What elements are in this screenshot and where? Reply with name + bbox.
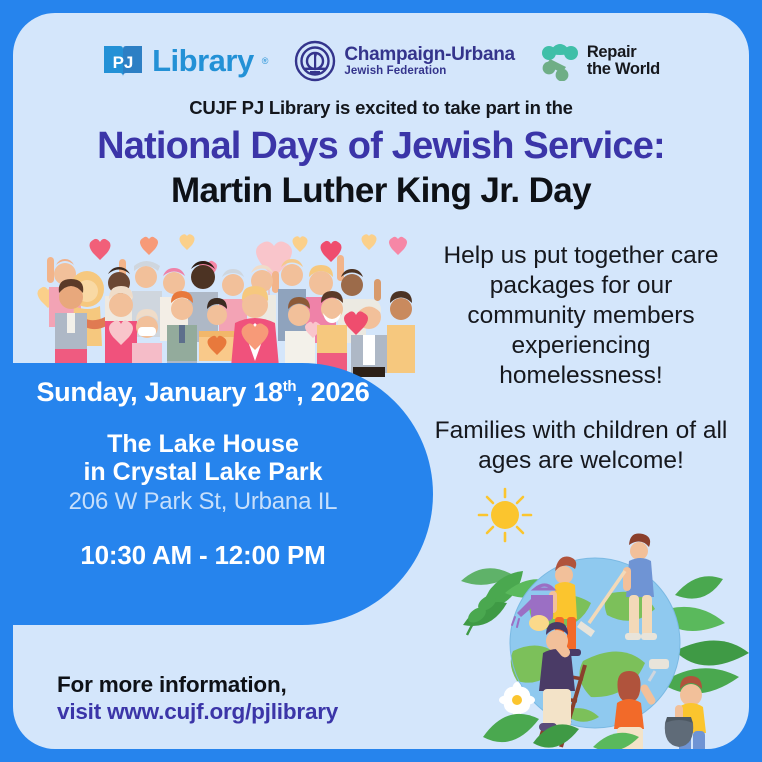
event-date: Sunday, January 18th, 2026 (36, 377, 369, 408)
description-block: Help us put together care packages for o… (431, 241, 731, 476)
event-date-prefix: Sunday, January 18 (36, 377, 282, 407)
event-venue-line-2: in Crystal Lake Park (83, 458, 322, 486)
repair-line-2: the World (587, 61, 660, 78)
event-address: 206 W Park St, Urbana IL (69, 488, 338, 516)
description-paragraph-2: Families with children of all ages are w… (431, 416, 731, 476)
repair-line-1: Repair (587, 44, 660, 61)
event-details-card: Sunday, January 18th, 2026 The Lake Hous… (13, 363, 433, 625)
diverse-crowd-holding-hearts-illustration (19, 231, 415, 383)
pj-library-wordmark: Library (152, 43, 254, 79)
paragraph-spacer (431, 390, 731, 416)
repair-wordmark: Repair the World (587, 44, 660, 78)
menorah-icon (294, 40, 336, 82)
flyer-canvas: PJ Library ® (0, 0, 762, 762)
volunteers-cleaning-earth-illustration (443, 475, 749, 749)
footer-block: For more information, visit www.cujf.org… (57, 671, 477, 725)
registered-mark-icon: ® (262, 56, 269, 66)
event-date-suffix: , 2026 (296, 377, 369, 407)
event-time: 10:30 AM - 12:00 PM (80, 540, 325, 571)
federation-logo: Champaign-Urbana Jewish Federation (294, 40, 514, 82)
page-title-line-2: Martin Luther King Jr. Day (13, 171, 749, 211)
pj-library-logo: PJ Library ® (102, 40, 268, 82)
footer-line-1: For more information, (57, 671, 477, 698)
flyer-inner-panel: PJ Library ® (13, 13, 749, 749)
page-title-line-1: National Days of Jewish Service: (13, 125, 749, 168)
event-details-content: Sunday, January 18th, 2026 The Lake Hous… (13, 363, 393, 625)
sun-icon (479, 489, 531, 541)
federation-line-1: Champaign-Urbana (344, 45, 514, 65)
event-venue: The Lake House in Crystal Lake Park (83, 430, 322, 486)
logo-row: PJ Library ® (13, 31, 749, 91)
event-venue-line-1: The Lake House (83, 430, 322, 458)
footer-website-link[interactable]: visit www.cujf.org/pjlibrary (57, 698, 477, 725)
open-book-icon: PJ (102, 40, 144, 82)
federation-wordmark: Champaign-Urbana Jewish Federation (344, 45, 514, 77)
svg-text:PJ: PJ (113, 53, 134, 72)
federation-line-2: Jewish Federation (344, 65, 514, 77)
event-date-ordinal: th (283, 378, 297, 395)
eyebrow-text: CUJF PJ Library is excited to take part … (13, 97, 749, 119)
two-linked-nodes-icon (541, 41, 579, 81)
repair-the-world-logo: Repair the World (541, 41, 660, 81)
description-paragraph-1: Help us put together care packages for o… (431, 241, 731, 390)
